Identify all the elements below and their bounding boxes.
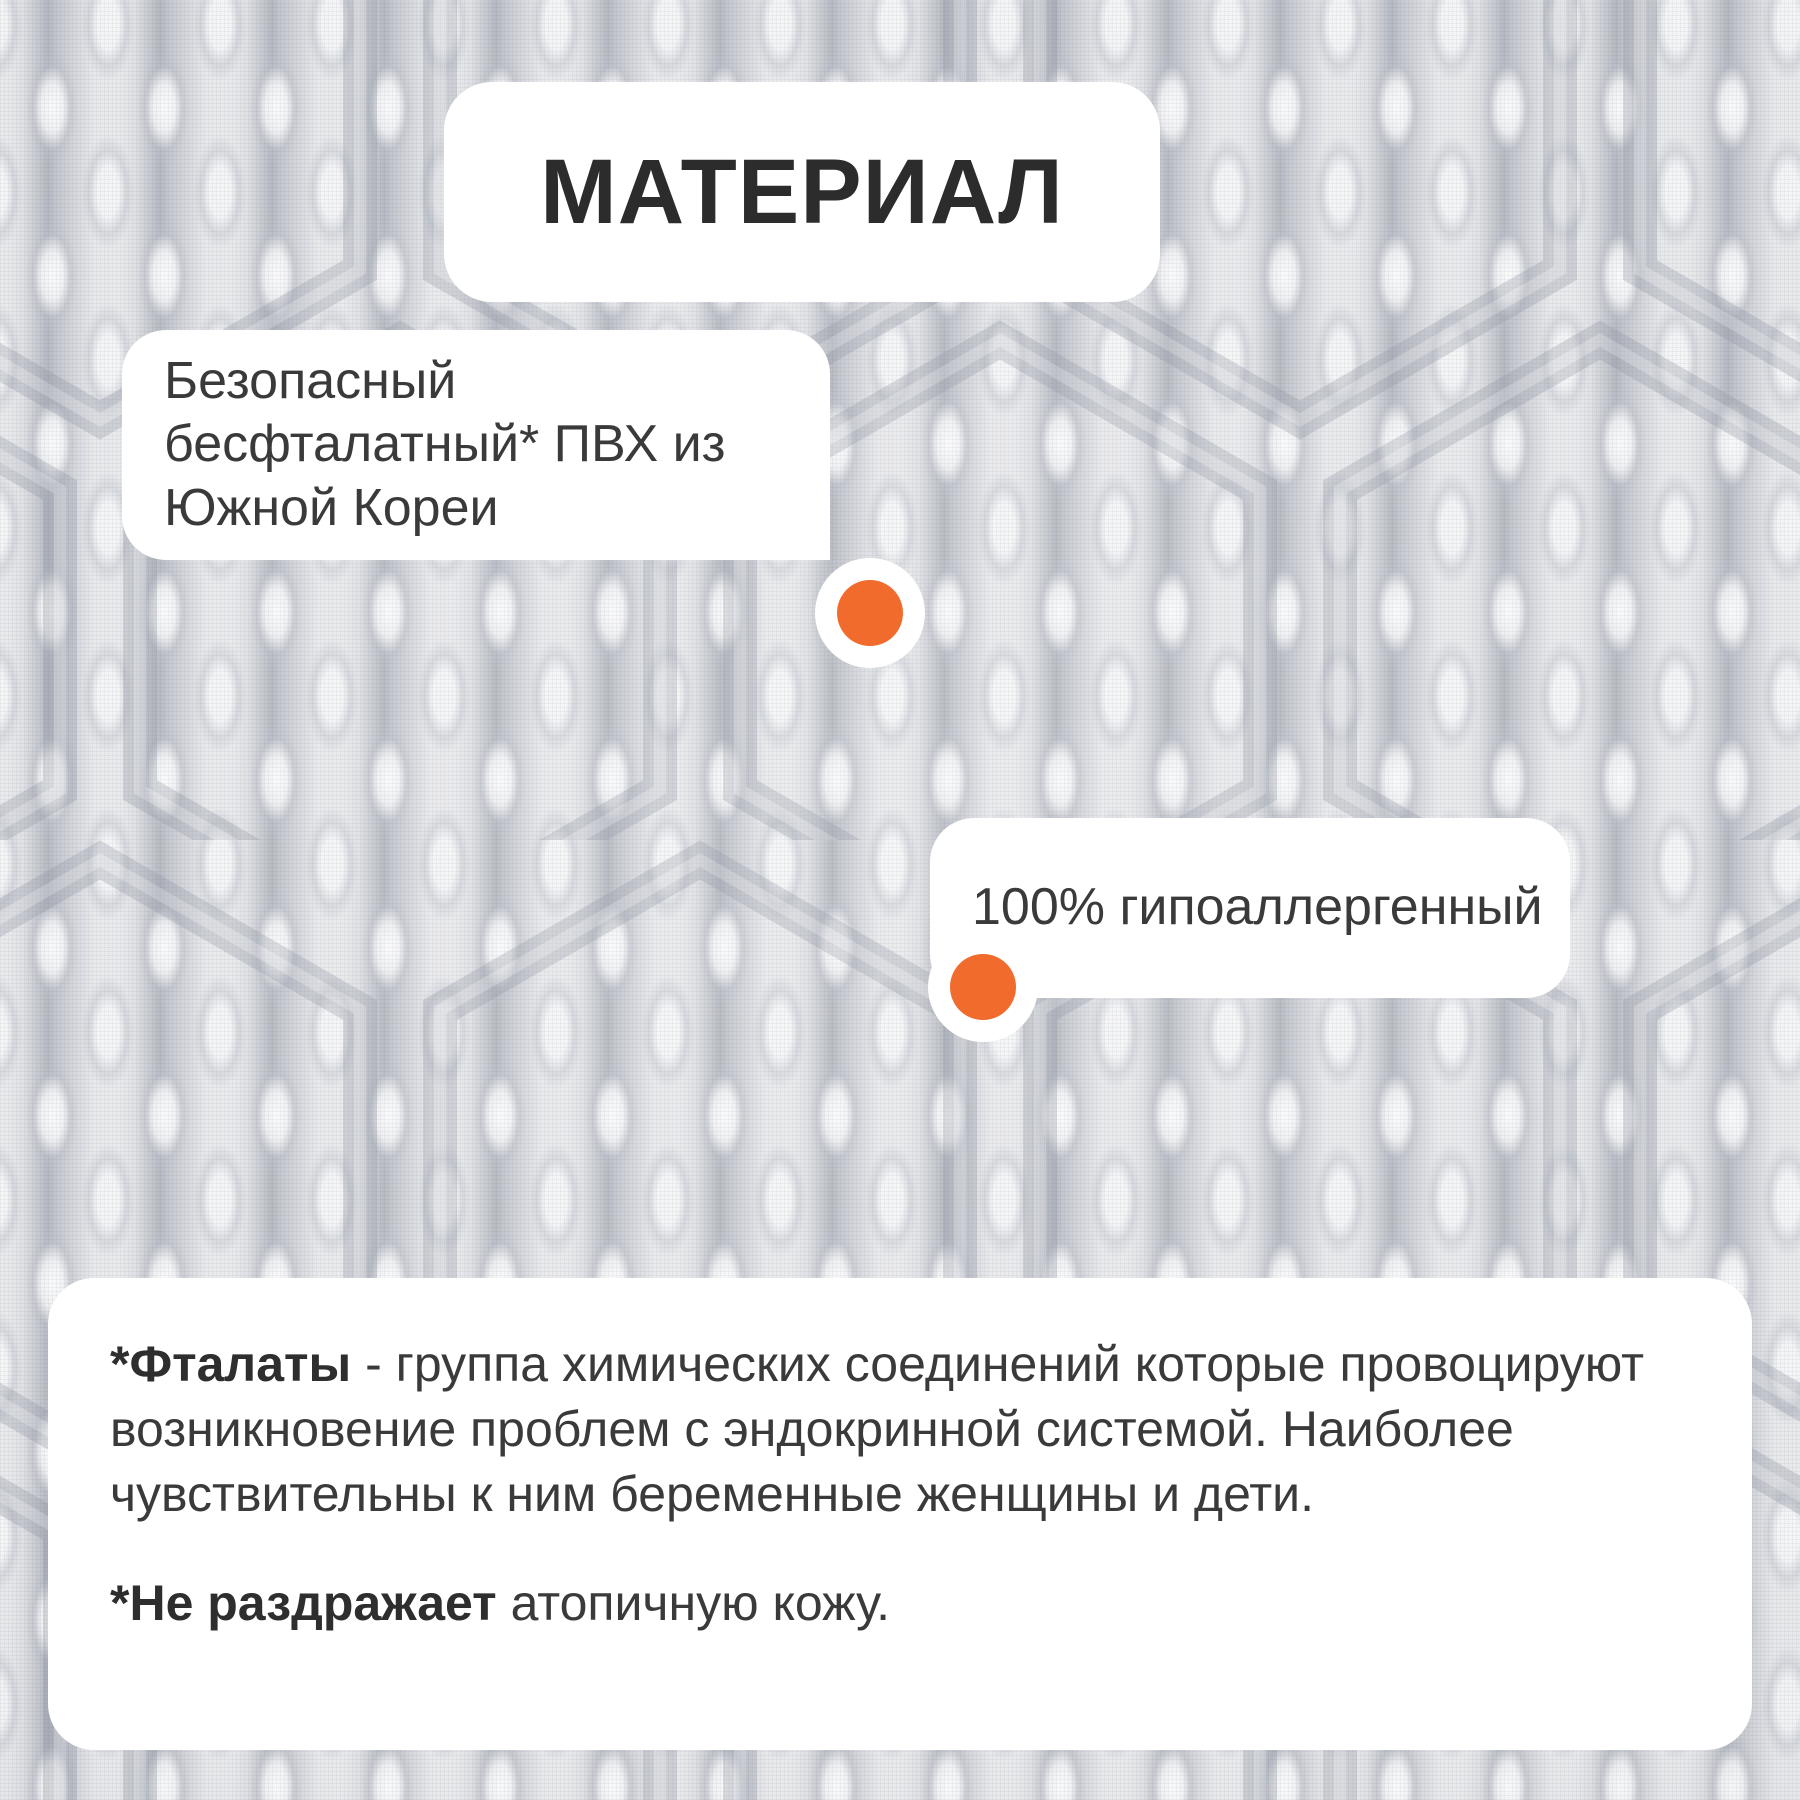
callout-1-bubble: Безопасный бесфталатный* ПВХ из Южной Ко… <box>122 330 756 560</box>
page-title: МАТЕРИАЛ <box>540 146 1064 238</box>
promo-slide: МАТЕРИАЛ Безопасный бесфталатный* ПВХ из… <box>0 0 1800 1800</box>
callout-1-dot-icon[interactable] <box>837 580 903 646</box>
footnote-nonirritating-body: атопичную кожу. <box>497 1575 890 1631</box>
footnote-panel: *Фталаты - группа химических соединений … <box>48 1278 1752 1750</box>
callout-2-bubble: 100% гипоаллергенный <box>930 818 1570 998</box>
footnote-nonirritating: *Не раздражает атопичную кожу. <box>110 1571 1690 1636</box>
callout-2-dot-icon[interactable] <box>950 954 1016 1020</box>
callout-2-text: 100% гипоаллергенный <box>972 876 1543 939</box>
title-card: МАТЕРИАЛ <box>444 82 1160 302</box>
footnote-phthalates-lead: *Фталаты <box>110 1336 351 1392</box>
footnote-nonirritating-lead: *Не раздражает <box>110 1575 497 1631</box>
callout-1-text: Безопасный бесфталатный* ПВХ из Южной Ко… <box>164 350 756 540</box>
footnote-phthalates: *Фталаты - группа химических соединений … <box>110 1332 1690 1527</box>
